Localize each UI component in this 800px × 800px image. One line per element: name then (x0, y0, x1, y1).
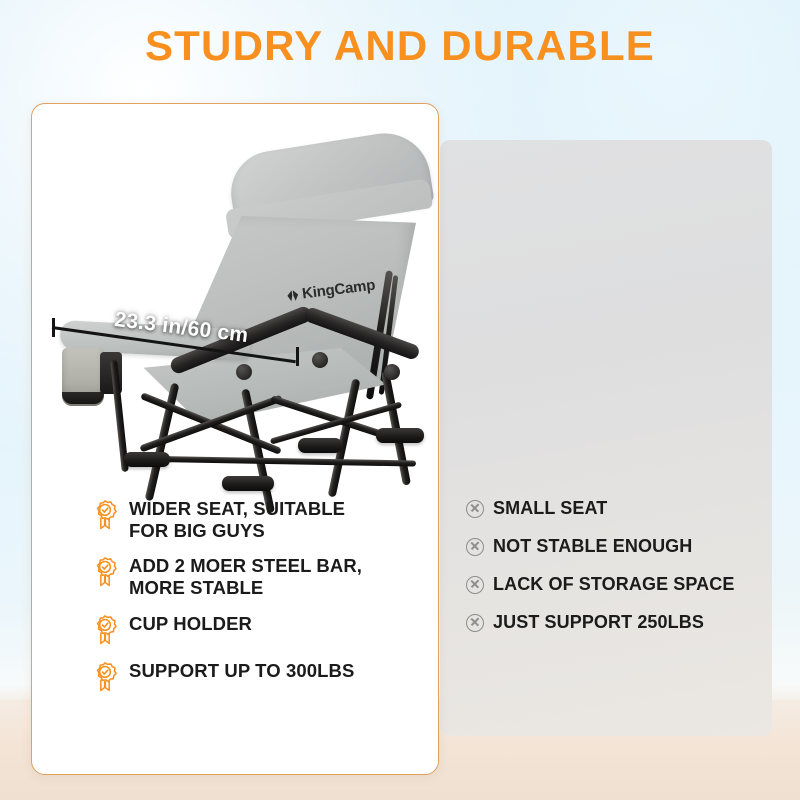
con-label: JUST SUPPORT 250LBS (493, 612, 704, 633)
award-ribbon-check-icon (92, 661, 118, 693)
pro-item: CUP HOLDER (92, 613, 422, 646)
award-ribbon-check-icon (92, 499, 118, 531)
competitor-panel: ⟶ ⟶ SMALL SEAT NOT STABLE ENOUGH LACK OF… (440, 140, 772, 736)
mountain-diamond-icon (285, 287, 300, 302)
featured-chair-image: KingCamp 23.3 in/60 cm (40, 120, 430, 480)
pro-label: CUP HOLDER (129, 613, 252, 635)
pro-item: WIDER SEAT, SUITABLE FOR BIG GUYS (92, 498, 422, 541)
con-item: NOT STABLE ENOUGH (466, 536, 776, 557)
award-ribbon-check-icon (92, 614, 118, 646)
chair-foot-2 (222, 476, 274, 491)
chair-hinge-3 (384, 364, 400, 380)
pros-list: WIDER SEAT, SUITABLE FOR BIG GUYS ADD 2 … (92, 498, 422, 693)
cons-list: SMALL SEAT NOT STABLE ENOUGH LACK OF STO… (466, 498, 776, 633)
chair-hinge-2 (312, 352, 328, 368)
dimension-cap-left (52, 318, 55, 337)
pro-label: WIDER SEAT, SUITABLE FOR BIG GUYS (129, 498, 345, 541)
cup-holder-band (62, 392, 104, 404)
con-label: NOT STABLE ENOUGH (493, 536, 692, 557)
chair-foot-4 (376, 428, 424, 443)
circle-x-icon (466, 614, 484, 632)
dimension-cap-right (296, 347, 299, 366)
con-item: SMALL SEAT (466, 498, 776, 519)
infographic-canvas: STUDRY AND DURABLE ⟶ ⟶ (0, 0, 800, 800)
pro-label: ADD 2 MOER STEEL BAR, MORE STABLE (129, 555, 362, 598)
page-title: STUDRY AND DURABLE (0, 22, 800, 70)
chair-foot-1 (124, 452, 170, 467)
con-item: JUST SUPPORT 250LBS (466, 612, 776, 633)
con-item: LACK OF STORAGE SPACE (466, 574, 776, 595)
chair-foot-3 (298, 438, 342, 453)
con-label: SMALL SEAT (493, 498, 607, 519)
con-label: LACK OF STORAGE SPACE (493, 574, 734, 595)
circle-x-icon (466, 538, 484, 556)
pro-item: SUPPORT UP TO 300LBS (92, 660, 422, 693)
circle-x-icon (466, 500, 484, 518)
pro-item: ADD 2 MOER STEEL BAR, MORE STABLE (92, 555, 422, 598)
award-ribbon-check-icon (92, 556, 118, 588)
pro-label: SUPPORT UP TO 300LBS (129, 660, 354, 682)
chair-hinge-1 (236, 364, 252, 380)
circle-x-icon (466, 576, 484, 594)
